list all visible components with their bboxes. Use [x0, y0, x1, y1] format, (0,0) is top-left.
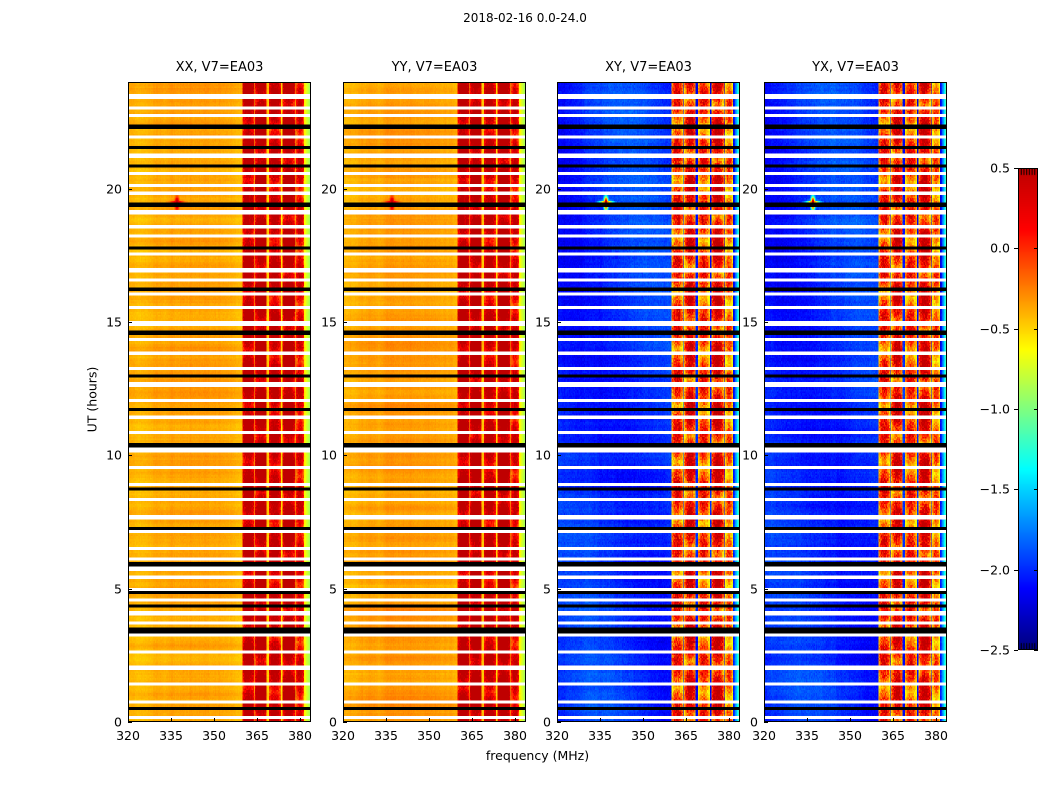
y-tick-label: 10: [527, 448, 551, 463]
y-tick-mark: [764, 722, 768, 723]
panel-title-yy: YY, V7=EA03: [343, 60, 526, 75]
y-tick-label: 0: [734, 715, 758, 730]
x-tick-mark: [171, 718, 172, 722]
x-tick-label: 380: [717, 728, 741, 743]
y-tick-label: 0: [313, 715, 337, 730]
x-tick-label: 320: [545, 728, 569, 743]
x-tick-label: 320: [331, 728, 355, 743]
x-tick-label: 320: [752, 728, 776, 743]
y-tick-label: 5: [527, 582, 551, 597]
y-tick-label: 0: [527, 715, 551, 730]
x-tick-mark: [893, 718, 894, 722]
panel-title-yx: YX, V7=EA03: [764, 60, 947, 75]
colorbar-tick-mark: [1014, 650, 1018, 651]
y-tick-label: 20: [734, 182, 758, 197]
y-tick-label: 5: [313, 582, 337, 597]
y-tick-label: 20: [313, 182, 337, 197]
y-tick-mark: [343, 322, 347, 323]
colorbar-tick-mark-inner: [1034, 248, 1038, 249]
colorbar-tick-label: 0.5: [968, 161, 1010, 176]
x-tick-mark: [600, 718, 601, 722]
colorbar-tick-mark-inner: [1034, 650, 1038, 651]
colorbar-tick-mark-inner: [1034, 489, 1038, 490]
y-tick-label: 10: [734, 448, 758, 463]
colorbar-tick-mark: [1014, 168, 1018, 169]
x-tick-label: 335: [588, 728, 612, 743]
y-tick-label: 10: [313, 448, 337, 463]
x-tick-mark: [300, 718, 301, 722]
colorbar-tick-label: −2.5: [968, 643, 1010, 658]
x-tick-label: 380: [503, 728, 527, 743]
y-tick-mark: [557, 722, 561, 723]
y-tick-mark: [764, 455, 768, 456]
y-tick-mark: [128, 589, 132, 590]
y-axis-label: UT (hours): [85, 340, 100, 460]
x-tick-label: 365: [881, 728, 905, 743]
x-tick-mark: [807, 718, 808, 722]
x-tick-label: 335: [374, 728, 398, 743]
spectrogram-yx: [764, 82, 947, 722]
panel-yx[interactable]: YX, V7=EA03: [764, 82, 947, 722]
y-tick-label: 15: [313, 315, 337, 330]
figure-suptitle: 2018-02-16 0.0-24.0: [0, 11, 1050, 25]
colorbar-tick-mark-inner: [1034, 329, 1038, 330]
x-tick-mark: [429, 718, 430, 722]
y-tick-mark: [557, 322, 561, 323]
x-tick-mark: [472, 718, 473, 722]
panel-xx[interactable]: XX, V7=EA03: [128, 82, 311, 722]
colorbar-tick-label: 0.0: [968, 241, 1010, 256]
y-tick-mark: [764, 589, 768, 590]
y-tick-mark: [128, 189, 132, 190]
colorbar-tick-mark: [1014, 248, 1018, 249]
panel-title-xx: XX, V7=EA03: [128, 60, 311, 75]
x-tick-label: 365: [674, 728, 698, 743]
x-axis-label: frequency (MHz): [338, 748, 738, 763]
y-tick-mark: [557, 589, 561, 590]
y-tick-mark: [764, 322, 768, 323]
x-tick-label: 350: [631, 728, 655, 743]
y-tick-label: 0: [98, 715, 122, 730]
colorbar-tick-label: −1.5: [968, 482, 1010, 497]
x-tick-mark: [515, 718, 516, 722]
y-tick-label: 15: [734, 315, 758, 330]
x-tick-mark: [214, 718, 215, 722]
y-tick-label: 10: [98, 448, 122, 463]
x-tick-mark: [850, 718, 851, 722]
x-tick-label: 350: [202, 728, 226, 743]
x-tick-mark: [686, 718, 687, 722]
panel-title-xy: XY, V7=EA03: [557, 60, 740, 75]
spectrogram-yy: [343, 82, 526, 722]
colorbar-tick-label: −1.0: [968, 402, 1010, 417]
figure-root: 2018-02-16 0.0-24.0 XX, V7=EA03YY, V7=EA…: [0, 0, 1050, 800]
colorbar-tick-mark-inner: [1034, 168, 1038, 169]
colorbar-tick-mark: [1014, 409, 1018, 410]
y-tick-label: 5: [734, 582, 758, 597]
x-tick-label: 350: [838, 728, 862, 743]
x-tick-mark: [386, 718, 387, 722]
colorbar-tick-mark-inner: [1034, 570, 1038, 571]
panel-xy[interactable]: XY, V7=EA03: [557, 82, 740, 722]
y-tick-label: 20: [527, 182, 551, 197]
spectrogram-xy: [557, 82, 740, 722]
x-tick-label: 365: [245, 728, 269, 743]
x-tick-label: 380: [288, 728, 312, 743]
y-tick-label: 15: [527, 315, 551, 330]
spectrogram-xx: [128, 82, 311, 722]
y-tick-mark: [128, 722, 132, 723]
x-tick-label: 365: [460, 728, 484, 743]
x-tick-label: 335: [159, 728, 183, 743]
x-tick-label: 380: [924, 728, 948, 743]
y-tick-mark: [557, 455, 561, 456]
colorbar-tick-mark: [1014, 329, 1018, 330]
x-tick-mark: [643, 718, 644, 722]
colorbar-tick-label: −2.0: [968, 563, 1010, 578]
y-tick-mark: [343, 589, 347, 590]
colorbar-tick-label: −0.5: [968, 322, 1010, 337]
y-tick-mark: [557, 189, 561, 190]
x-tick-mark: [729, 718, 730, 722]
y-tick-mark: [764, 189, 768, 190]
y-tick-mark: [343, 455, 347, 456]
x-tick-label: 335: [795, 728, 819, 743]
colorbar-tick-mark-inner: [1034, 409, 1038, 410]
x-tick-mark: [936, 718, 937, 722]
y-tick-mark: [343, 722, 347, 723]
x-tick-mark: [257, 718, 258, 722]
y-tick-mark: [128, 455, 132, 456]
x-tick-label: 350: [417, 728, 441, 743]
colorbar-tick-mark: [1014, 570, 1018, 571]
y-tick-label: 5: [98, 582, 122, 597]
y-tick-mark: [343, 189, 347, 190]
x-tick-label: 320: [116, 728, 140, 743]
y-tick-label: 20: [98, 182, 122, 197]
y-tick-label: 15: [98, 315, 122, 330]
colorbar-tick-mark: [1014, 489, 1018, 490]
y-tick-mark: [128, 322, 132, 323]
panel-yy[interactable]: YY, V7=EA03: [343, 82, 526, 722]
